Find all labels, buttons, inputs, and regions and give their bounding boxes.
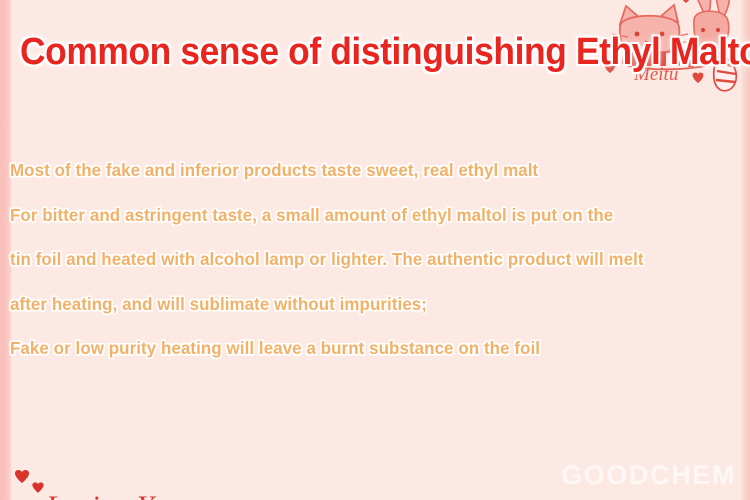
loving-you-label: Loving You (45, 490, 181, 500)
heart-icon (693, 73, 704, 83)
body-line: after heating, and will sublimate withou… (10, 282, 732, 327)
body-line: tin foil and heated with alcohol lamp or… (10, 237, 732, 282)
heart-icon (32, 482, 43, 492)
body-text-block: Most of the fake and inferior products t… (10, 148, 750, 371)
heart-icon (15, 470, 29, 483)
brand-watermark: GOODCHEM (561, 460, 736, 491)
body-line: Most of the fake and inferior products t… (10, 148, 732, 193)
loving-you-watermark: Loving You (8, 450, 228, 500)
heart-icon (681, 0, 692, 3)
body-line: Fake or low purity heating will leave a … (10, 326, 732, 371)
slide-title: Common sense of distinguishing Ethyl Mal… (20, 30, 682, 74)
slide-canvas: Meitu Common sense of distinguishing Eth… (0, 0, 750, 500)
body-line: For bitter and astringent taste, a small… (10, 193, 732, 238)
